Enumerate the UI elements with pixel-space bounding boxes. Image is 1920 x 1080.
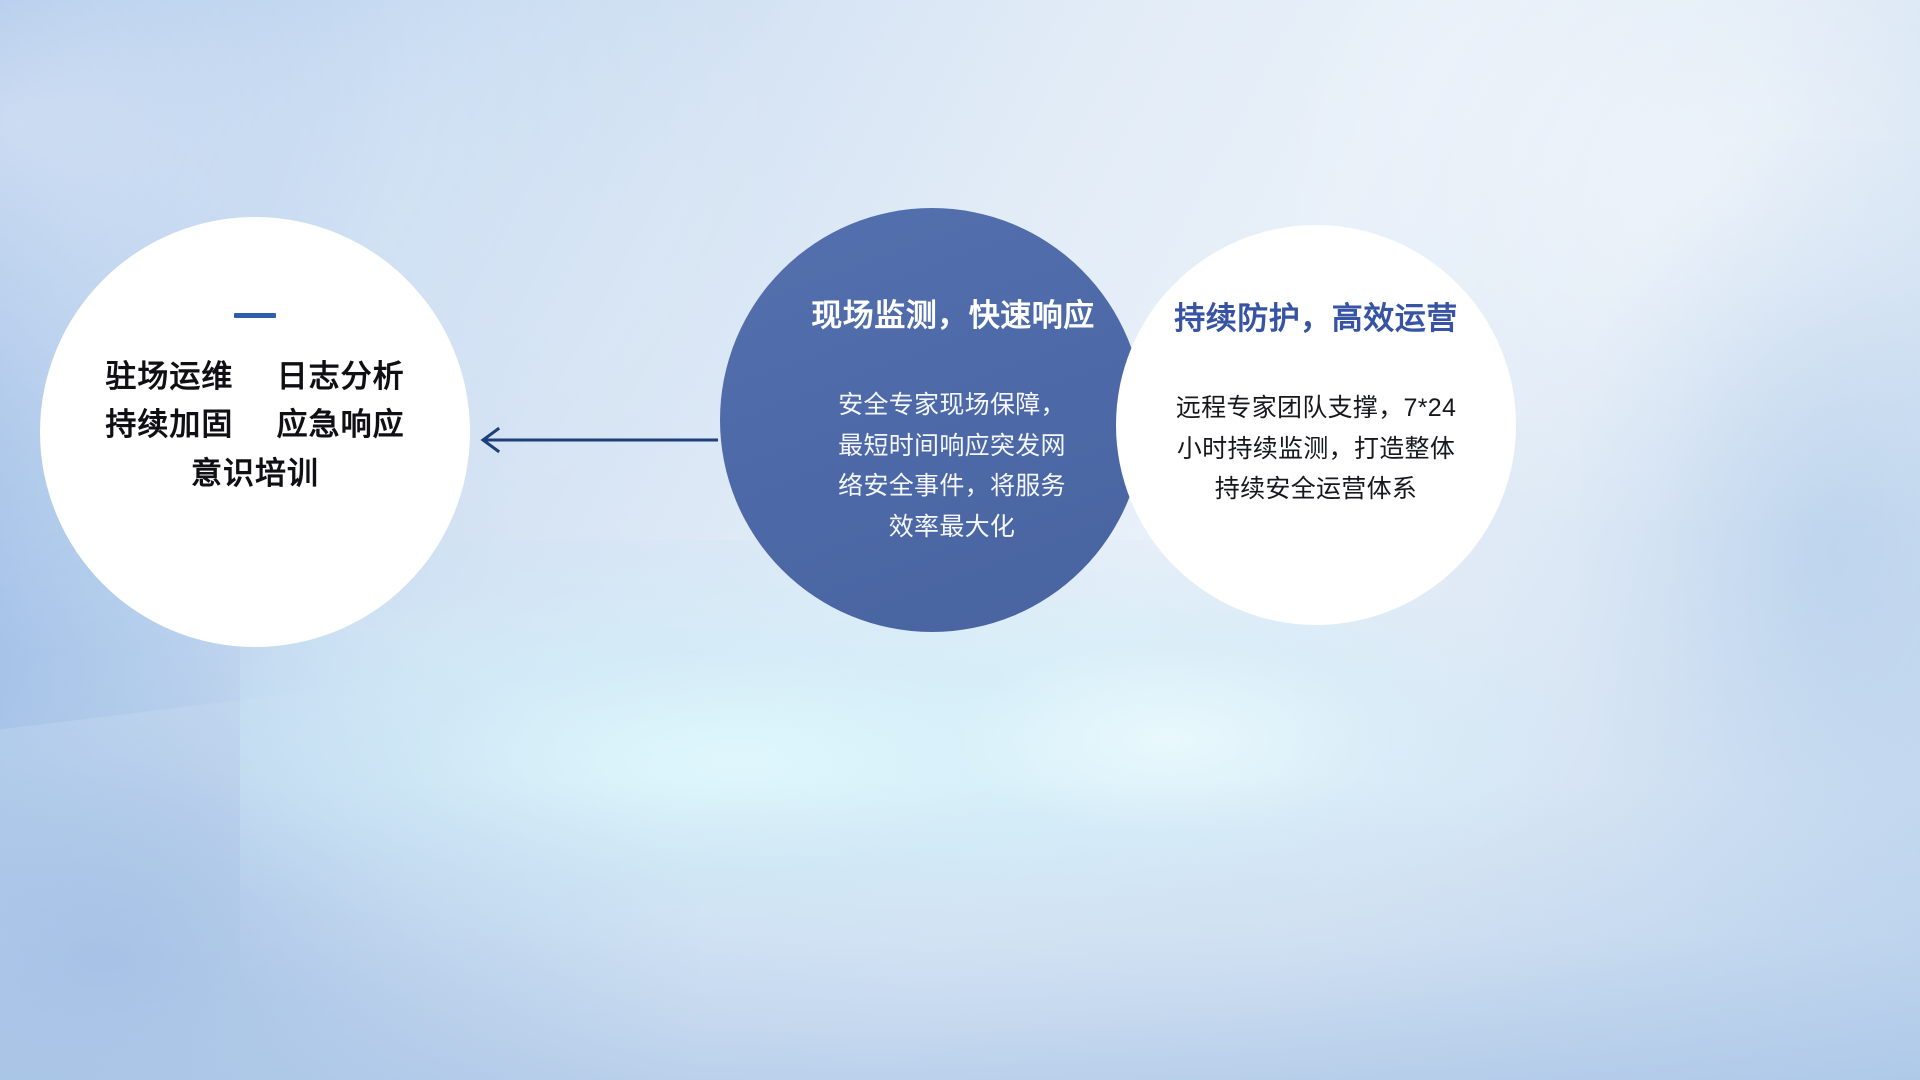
body-line: 小时持续监测，打造整体 (1136, 429, 1496, 470)
body-line: 安全专家现场保障， (802, 385, 1102, 426)
capability-keyword: 意识培训 (191, 456, 319, 491)
capability-keyword: 持续加固 (105, 407, 233, 442)
capability-keyword-row: 持续加固 应急响应 (105, 408, 404, 441)
circle-body-text: 安全专家现场保障， 最短时间响应突发网 络安全事件，将服务 效率最大化 (802, 385, 1102, 547)
capability-circle-right[interactable]: 持续防护，高效运营 远程专家团队支撑，7*24 小时持续监测，打造整体 持续安全… (1116, 225, 1516, 625)
capability-keyword: 驻场运维 (105, 359, 233, 394)
body-line: 远程专家团队支撑，7*24 (1136, 388, 1496, 429)
capability-keyword: 日志分析 (277, 359, 405, 394)
divider-dash (234, 313, 276, 318)
capability-keyword: 应急响应 (277, 407, 405, 442)
capability-keyword-list: 驻场运维 日志分析 持续加固 应急响应 意识培训 (40, 360, 470, 490)
capability-keyword-row: 意识培训 (191, 457, 319, 490)
body-line: 络安全事件，将服务 (802, 466, 1102, 507)
capability-keyword-row: 驻场运维 日志分析 (105, 360, 404, 393)
body-line: 效率最大化 (802, 507, 1102, 548)
body-line: 持续安全运营体系 (1136, 469, 1496, 510)
capability-circle-left[interactable]: 驻场运维 日志分析 持续加固 应急响应 意识培训 (40, 217, 470, 647)
capability-circle-middle[interactable]: 现场监测，快速响应 安全专家现场保障， 最短时间响应突发网 络安全事件，将服务 … (720, 208, 1144, 632)
circle-title: 持续防护，高效运营 (1174, 293, 1458, 338)
arrow-left-icon (470, 418, 720, 462)
circle-title: 现场监测，快速响应 (811, 290, 1095, 335)
diagram-stage: 驻场运维 日志分析 持续加固 应急响应 意识培训 现场监测，快速响应 安全专家现… (0, 0, 1920, 1080)
circle-body-text: 远程专家团队支撑，7*24 小时持续监测，打造整体 持续安全运营体系 (1136, 388, 1496, 510)
body-line: 最短时间响应突发网 (802, 426, 1102, 467)
